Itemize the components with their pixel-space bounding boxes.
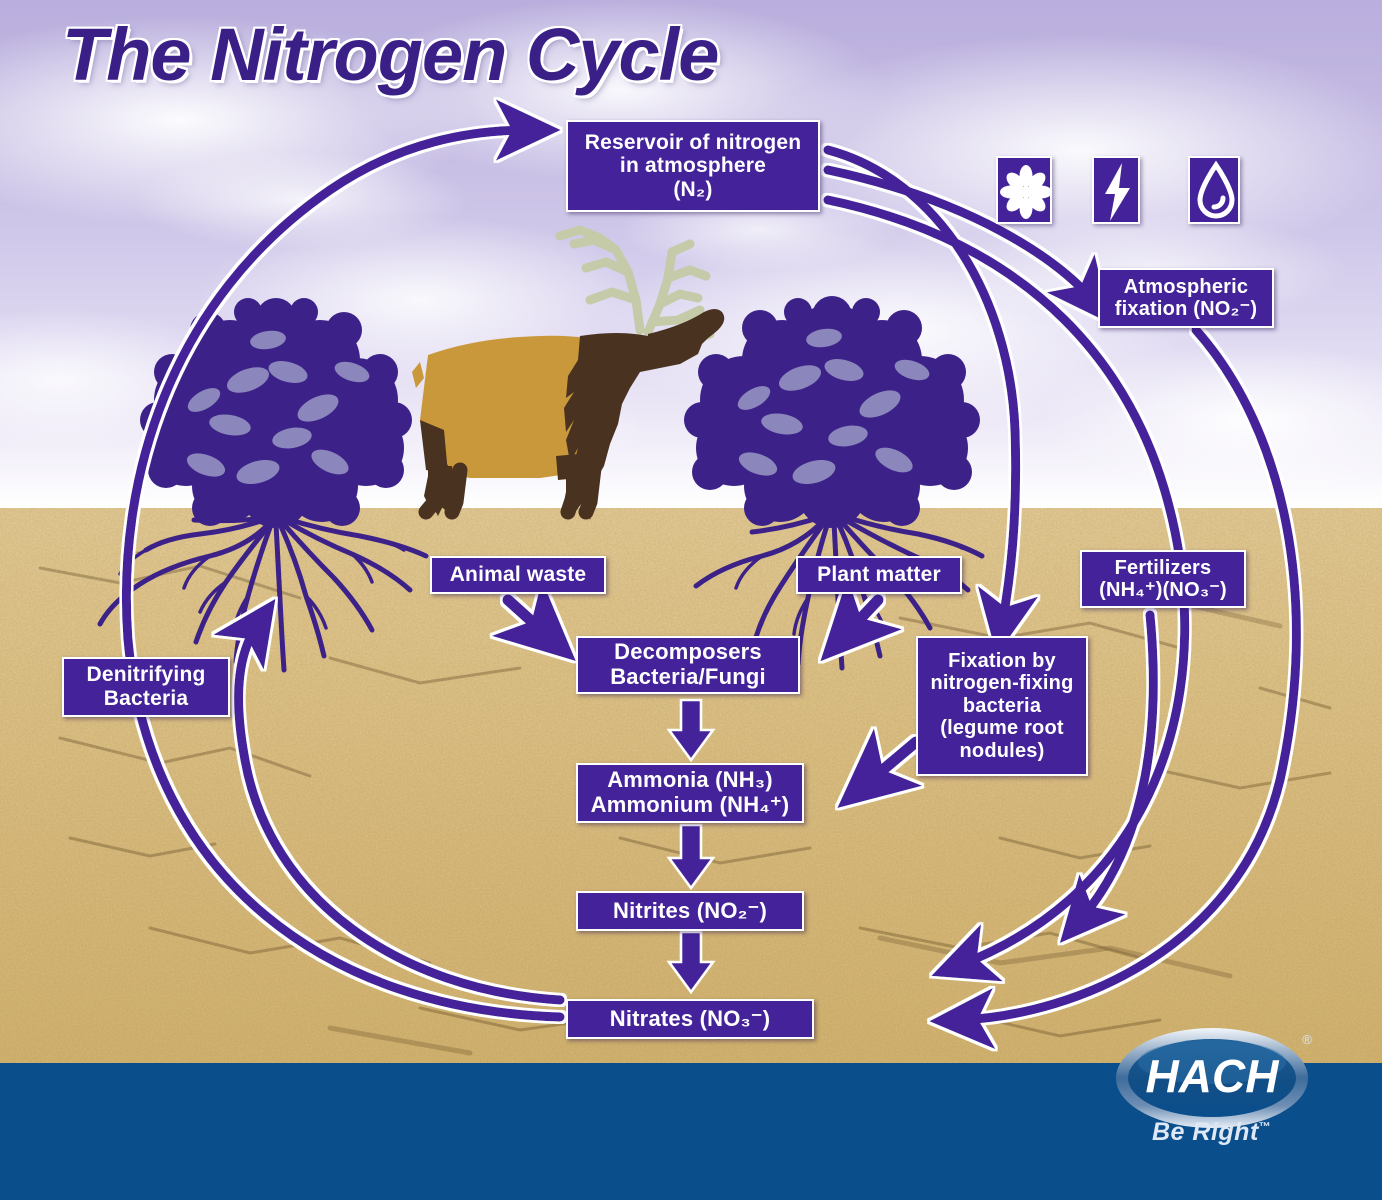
box-animal-waste[interactable]: Animal waste bbox=[430, 556, 606, 594]
box-denitrifying-bacteria[interactable]: Denitrifying Bacteria bbox=[62, 657, 230, 717]
box-nitrates[interactable]: Nitrates (NO₃⁻) bbox=[566, 999, 814, 1039]
hach-tagline: Be Right™ bbox=[1152, 1118, 1271, 1147]
box-plant-matter[interactable]: Plant matter bbox=[796, 556, 962, 594]
box-nitrogen-fixing-bacteria[interactable]: Fixation by nitrogen-fixing bacteria (le… bbox=[916, 636, 1088, 776]
arrow-plant-matter-to-decomposers bbox=[846, 600, 878, 634]
box-fertilizers[interactable]: Fertilizers (NH₄⁺)(NO₃⁻) bbox=[1080, 550, 1246, 608]
trademark-mark: ™ bbox=[1259, 1120, 1272, 1134]
box-nitrites[interactable]: Nitrites (NO₂⁻) bbox=[576, 891, 804, 931]
box-ammonia-ammonium[interactable]: Ammonia (NH₃) Ammonium (NH₄⁺) bbox=[576, 763, 804, 823]
arrow-decomposers-to-ammonia bbox=[669, 700, 713, 760]
registered-mark: ® bbox=[1302, 1032, 1312, 1047]
box-decomposers[interactable]: Decomposers Bacteria/Fungi bbox=[576, 636, 800, 694]
arrow-nitrates-to-roots bbox=[239, 624, 560, 1000]
hach-wordmark: HACH bbox=[1146, 1050, 1280, 1102]
hach-logo: HACH ® bbox=[1112, 1022, 1322, 1172]
box-reservoir[interactable]: Reservoir of nitrogen in atmosphere (N₂) bbox=[566, 120, 820, 212]
arrow-fixation-to-ammonia bbox=[866, 742, 916, 784]
lightning-bolt-icon bbox=[1092, 156, 1140, 224]
box-atmospheric-fixation[interactable]: Atmospheric fixation (NO₂⁻) bbox=[1098, 268, 1274, 328]
arrow-nitrites-to-nitrates bbox=[669, 932, 713, 992]
chain-arrows bbox=[669, 700, 713, 992]
sunburst-icon bbox=[996, 156, 1052, 224]
arrow-ammonia-to-nitrites bbox=[669, 825, 713, 888]
water-droplet-icon bbox=[1188, 156, 1240, 224]
nitrogen-cycle-poster: The Nitrogen Cycle bbox=[0, 0, 1382, 1200]
arrow-animal-waste-to-decomposers bbox=[508, 600, 548, 636]
tagline-text: Be Right bbox=[1152, 1118, 1259, 1146]
